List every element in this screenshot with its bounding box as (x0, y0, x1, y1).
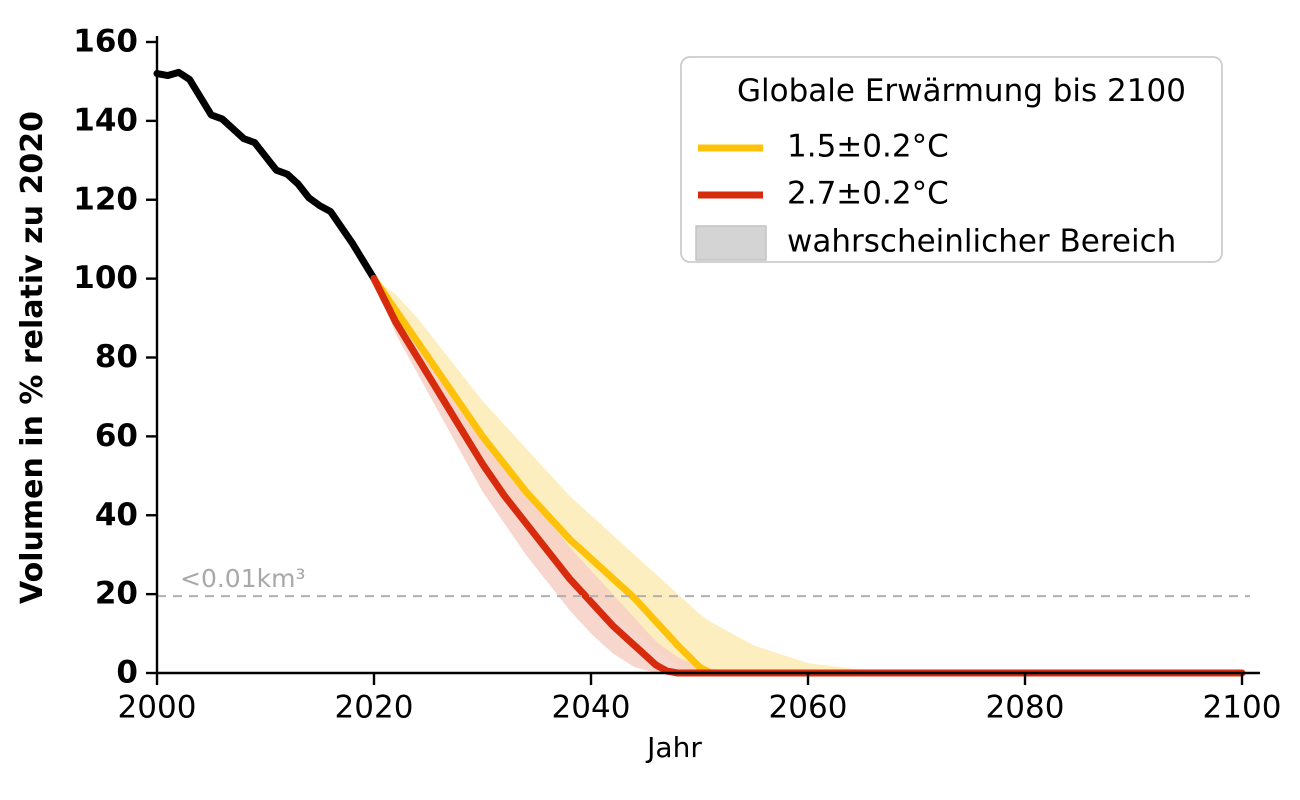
y-tick-label: 120 (73, 181, 138, 217)
chart-legend: Globale Erwärmung bis 21001.5±0.2°C2.7±0… (681, 57, 1222, 262)
x-tick-label: 2000 (118, 689, 197, 725)
y-axis-title: Volumen in % relativ zu 2020 (15, 111, 50, 604)
threshold-label: <0.01km³ (180, 564, 305, 593)
y-tick-label: 160 (73, 24, 138, 60)
band-2.7±0.2°C (374, 279, 1242, 673)
legend-swatch-patch (696, 226, 766, 260)
y-tick-label: 20 (95, 576, 138, 612)
legend-title: Globale Erwärmung bis 2100 (737, 73, 1186, 109)
legend-entry-label: 1.5±0.2°C (787, 129, 949, 165)
x-tick-label: 2060 (769, 689, 848, 725)
legend-entry-label: wahrscheinlicher Bereich (787, 224, 1176, 260)
chart-canvas: 0204060801001201401602000202020402060208… (0, 0, 1300, 800)
y-tick-label: 0 (116, 655, 138, 691)
line-historisch (157, 72, 374, 278)
y-tick-label: 40 (95, 497, 138, 533)
x-tick-label: 2020 (335, 689, 414, 725)
x-tick-label: 2100 (1203, 689, 1282, 725)
y-tick-label: 100 (73, 260, 138, 296)
legend-entry-label: 2.7±0.2°C (787, 176, 949, 212)
y-tick-label: 60 (95, 418, 138, 454)
x-axis-title: Jahr (645, 731, 702, 764)
x-tick-label: 2080 (986, 689, 1065, 725)
y-tick-label: 140 (73, 102, 138, 138)
chart-figure: 0204060801001201401602000202020402060208… (0, 0, 1300, 800)
y-tick-label: 80 (95, 339, 138, 375)
uncertainty-bands (374, 279, 1242, 673)
x-tick-label: 2040 (552, 689, 631, 725)
